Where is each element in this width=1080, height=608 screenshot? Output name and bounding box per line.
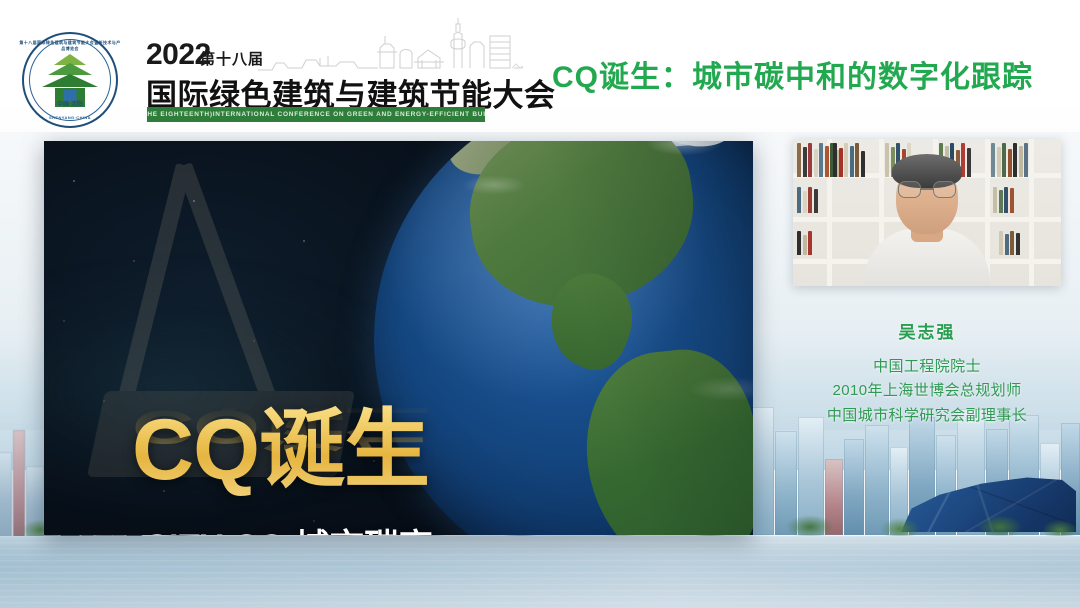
screen-stage: CQ诞生 CQ诞生 CITY-CQ 城市碳商 第十八届国际绿色建筑与建筑节能大会… xyxy=(0,0,1080,608)
speaker-title-1: 中国工程院院士 xyxy=(793,355,1061,379)
speaker-name: 吴志强 xyxy=(793,318,1061,343)
eyeglasses-icon xyxy=(898,181,956,198)
conference-header: 第十八届国际绿色建筑与建筑节能大会暨新技术与产品博览会 中国·沈阳 SHENYA… xyxy=(0,0,1080,132)
conference-name-en: 2022(THE EIGHTEENTH)INTERNATIONAL CONFER… xyxy=(147,107,485,122)
slide-title: CQ诞生 xyxy=(132,379,429,504)
emblem-city-label: 中国·沈阳 xyxy=(18,99,122,108)
emblem-arc-text-bottom: SHENYANG·CHINA xyxy=(18,115,122,120)
speaker-caption: 吴志强 中国工程院院士 2010年上海世博会总规划师 中国城市科学研究会副理事长 xyxy=(793,318,1061,428)
conference-emblem-logo: 第十八届国际绿色建筑与建筑节能大会暨新技术与产品博览会 中国·沈阳 SHENYA… xyxy=(18,28,122,132)
river-water xyxy=(0,536,1080,608)
conference-edition: 第十八届 xyxy=(200,48,264,69)
talk-title: CQ诞生：城市碳中和的数字化跟踪 xyxy=(552,52,1033,96)
presentation-slide[interactable]: CQ诞生 CQ诞生 CITY-CQ 城市碳商 xyxy=(44,141,753,535)
speaker-title-2: 2010年上海世博会总规划师 xyxy=(793,379,1061,403)
pagoda-emblem-icon xyxy=(39,54,101,104)
speaker-video-feed[interactable] xyxy=(793,139,1061,286)
earth-globe-icon xyxy=(374,141,753,535)
emblem-arc-text-top: 第十八届国际绿色建筑与建筑节能大会暨新技术与产品博览会 xyxy=(18,40,122,52)
slide-subtitle: CITY-CQ 城市碳商 xyxy=(144,519,433,535)
city-skyline-icon xyxy=(258,18,523,74)
speaker-title-3: 中国城市科学研究会副理事长 xyxy=(793,404,1061,428)
speaker-portrait xyxy=(864,168,990,286)
